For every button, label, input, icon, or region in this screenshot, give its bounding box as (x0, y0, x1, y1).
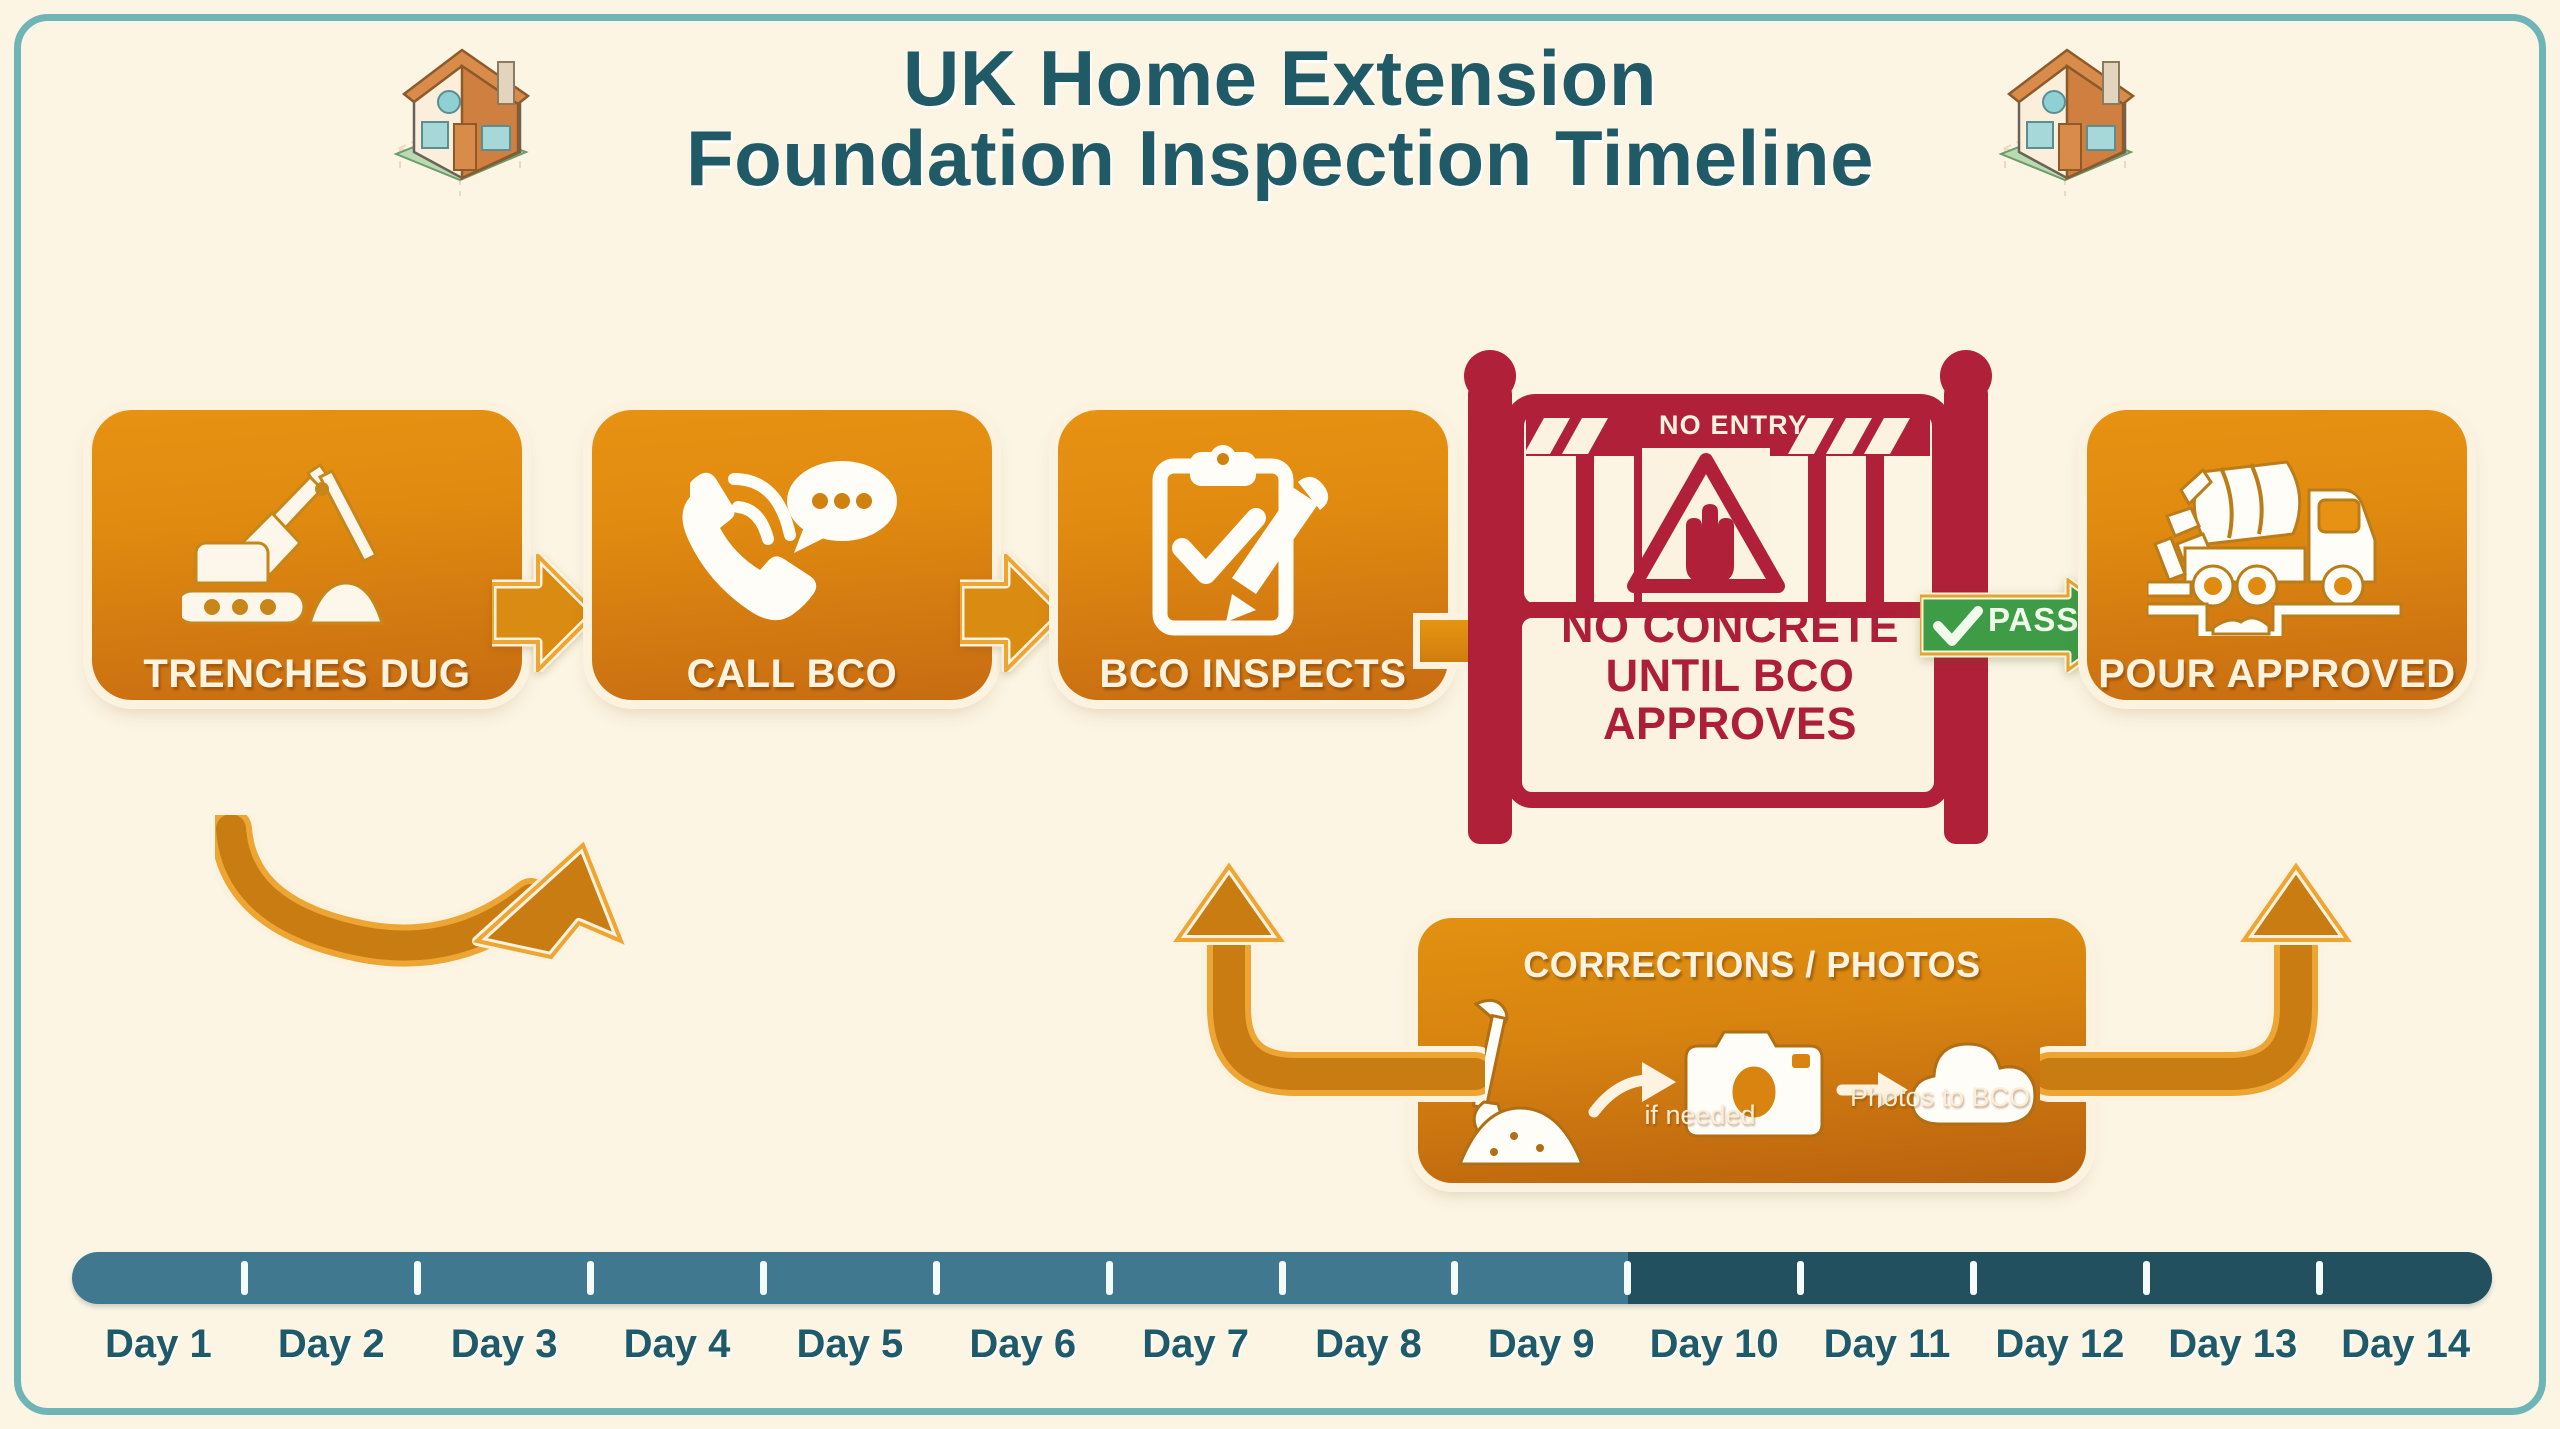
caption-photos-to-bco: Photos to BCO (1840, 1082, 2040, 1112)
timeline-tick (760, 1261, 767, 1295)
timeline-day-labels: Day 1Day 2Day 3Day 4Day 5Day 6Day 7Day 8… (72, 1322, 2492, 1382)
no-entry-label: NO ENTRY (1623, 410, 1843, 441)
outer-frame (14, 14, 2546, 1415)
timeline-tick (1279, 1261, 1286, 1295)
house-icon (1975, 28, 2155, 198)
sign-line-3: APPROVES (1520, 700, 1940, 749)
card-title: BCO INSPECTS (1099, 652, 1406, 697)
caption-if-needed: if needed (1590, 1100, 1810, 1130)
house-icon (370, 28, 550, 198)
timeline-tick (1451, 1261, 1458, 1295)
step-card-pour-approved[interactable]: POUR APPROVED Day 10-14 (2087, 410, 2467, 700)
loop-back-arrow (1155, 860, 1485, 1110)
timeline-tick (587, 1261, 594, 1295)
timeline-bar (72, 1252, 2492, 1304)
card-title: POUR APPROVED (2098, 652, 2456, 697)
timeline-day-label: Day 9 (1455, 1322, 1628, 1382)
corrections-photos-box[interactable]: CORRECTIONS / PHOTOS (1418, 918, 2086, 1183)
excavator-icon (182, 436, 432, 646)
card-title: CALL BCO (687, 652, 898, 697)
timeline-day-label: Day 14 (2319, 1322, 2492, 1382)
step-card-bco-inspects[interactable]: BCO INSPECTS Day 3-9 (1058, 410, 1448, 700)
step-card-trenches[interactable]: TRENCHES DUG Day 1-2 (92, 410, 522, 700)
timeline-tick (241, 1261, 248, 1295)
timeline-day-label: Day 3 (418, 1322, 591, 1382)
timeline-late-segment (1628, 1252, 2492, 1304)
card-title: TRENCHES DUG (143, 652, 470, 697)
timeline-day-label: Day 1 (72, 1322, 245, 1382)
timeline-day-label: Day 7 (1109, 1322, 1282, 1382)
timeline-day-label: Day 5 (763, 1322, 936, 1382)
timeline-tick (414, 1261, 421, 1295)
loop-forward-arrow (2040, 860, 2370, 1110)
timeline-tick (1970, 1261, 1977, 1295)
pass-label: PASS (1988, 601, 2079, 639)
timeline-day-label: Day 2 (245, 1322, 418, 1382)
barrier-sign-text: NO CONCRETE UNTIL BCO APPROVES (1520, 603, 1940, 749)
timeline-tick (2143, 1261, 2150, 1295)
sign-line-1: NO CONCRETE (1520, 603, 1940, 652)
phone-call-icon (672, 436, 912, 646)
arrow-right-icon (960, 554, 1065, 672)
timeline-day-label: Day 8 (1282, 1322, 1455, 1382)
timeline-day-label: Day 13 (2146, 1322, 2319, 1382)
arrow-right-icon (492, 554, 597, 672)
timeline-tick (2316, 1261, 2323, 1295)
timeline-day-label: Day 10 (1628, 1322, 1801, 1382)
timeline-tick (1106, 1261, 1113, 1295)
timeline-day-label: Day 6 (936, 1322, 1109, 1382)
timeline-tick (1797, 1261, 1804, 1295)
timeline-day-label: Day 12 (1973, 1322, 2146, 1382)
step-card-call-bco[interactable]: CALL BCO Day 2-3 (592, 410, 992, 700)
timeline-tick (933, 1261, 940, 1295)
timeline-day-label: Day 4 (591, 1322, 764, 1382)
sign-line-2: UNTIL BCO (1520, 652, 1940, 701)
clipboard-check-icon (1146, 436, 1361, 646)
loop-back-arrow (215, 815, 635, 995)
infographic-canvas: UK Home Extension Foundation Inspection … (0, 0, 2560, 1429)
timeline-day-label: Day 11 (1801, 1322, 1974, 1382)
corrections-title: CORRECTIONS / PHOTOS (1418, 944, 2086, 986)
cement-mixer-icon (2147, 436, 2407, 646)
timeline-tick (1624, 1261, 1631, 1295)
